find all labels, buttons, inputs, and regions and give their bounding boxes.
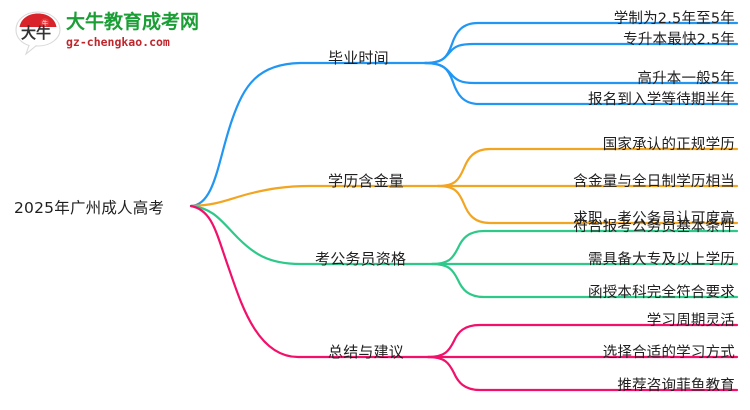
leaf-label-2-1[interactable]: 国家承认的正规学历: [603, 133, 735, 154]
leaf-label-3-2[interactable]: 需具备大专及以上学历: [588, 248, 735, 269]
leaf-label-1-1[interactable]: 学制为2.5年至5年: [614, 7, 735, 28]
leaf-label-3-3[interactable]: 函授本科完全符合要求: [588, 281, 735, 302]
leaf-label-3-1[interactable]: 符合报考公务员基本条件: [573, 215, 735, 236]
leaf-label-1-2[interactable]: 专升本最快2.5年: [623, 28, 735, 49]
mindmap-canvas: 牛 大牛 大牛教育成考网 gz-chengkao.com: [0, 0, 750, 410]
leaf-label-4-3[interactable]: 推荐咨询菲鱼教育: [617, 374, 735, 395]
leaf-label-4-2[interactable]: 选择合适的学习方式: [603, 341, 735, 362]
branch-label-3[interactable]: 考公务员资格: [315, 248, 406, 269]
root-node-label[interactable]: 2025年广州成人高考: [14, 196, 164, 218]
leaf-label-1-3[interactable]: 高升本一般5年: [637, 67, 735, 88]
leaf-label-2-2[interactable]: 含金量与全日制学历相当: [573, 170, 735, 191]
branch-label-1[interactable]: 毕业时间: [328, 47, 389, 68]
leaf-label-1-4[interactable]: 报名到入学等待期半年: [588, 88, 735, 109]
branch-label-4[interactable]: 总结与建议: [328, 341, 404, 362]
leaf-label-4-1[interactable]: 学习周期灵活: [647, 309, 735, 330]
branch-label-2[interactable]: 学历含金量: [328, 170, 404, 191]
